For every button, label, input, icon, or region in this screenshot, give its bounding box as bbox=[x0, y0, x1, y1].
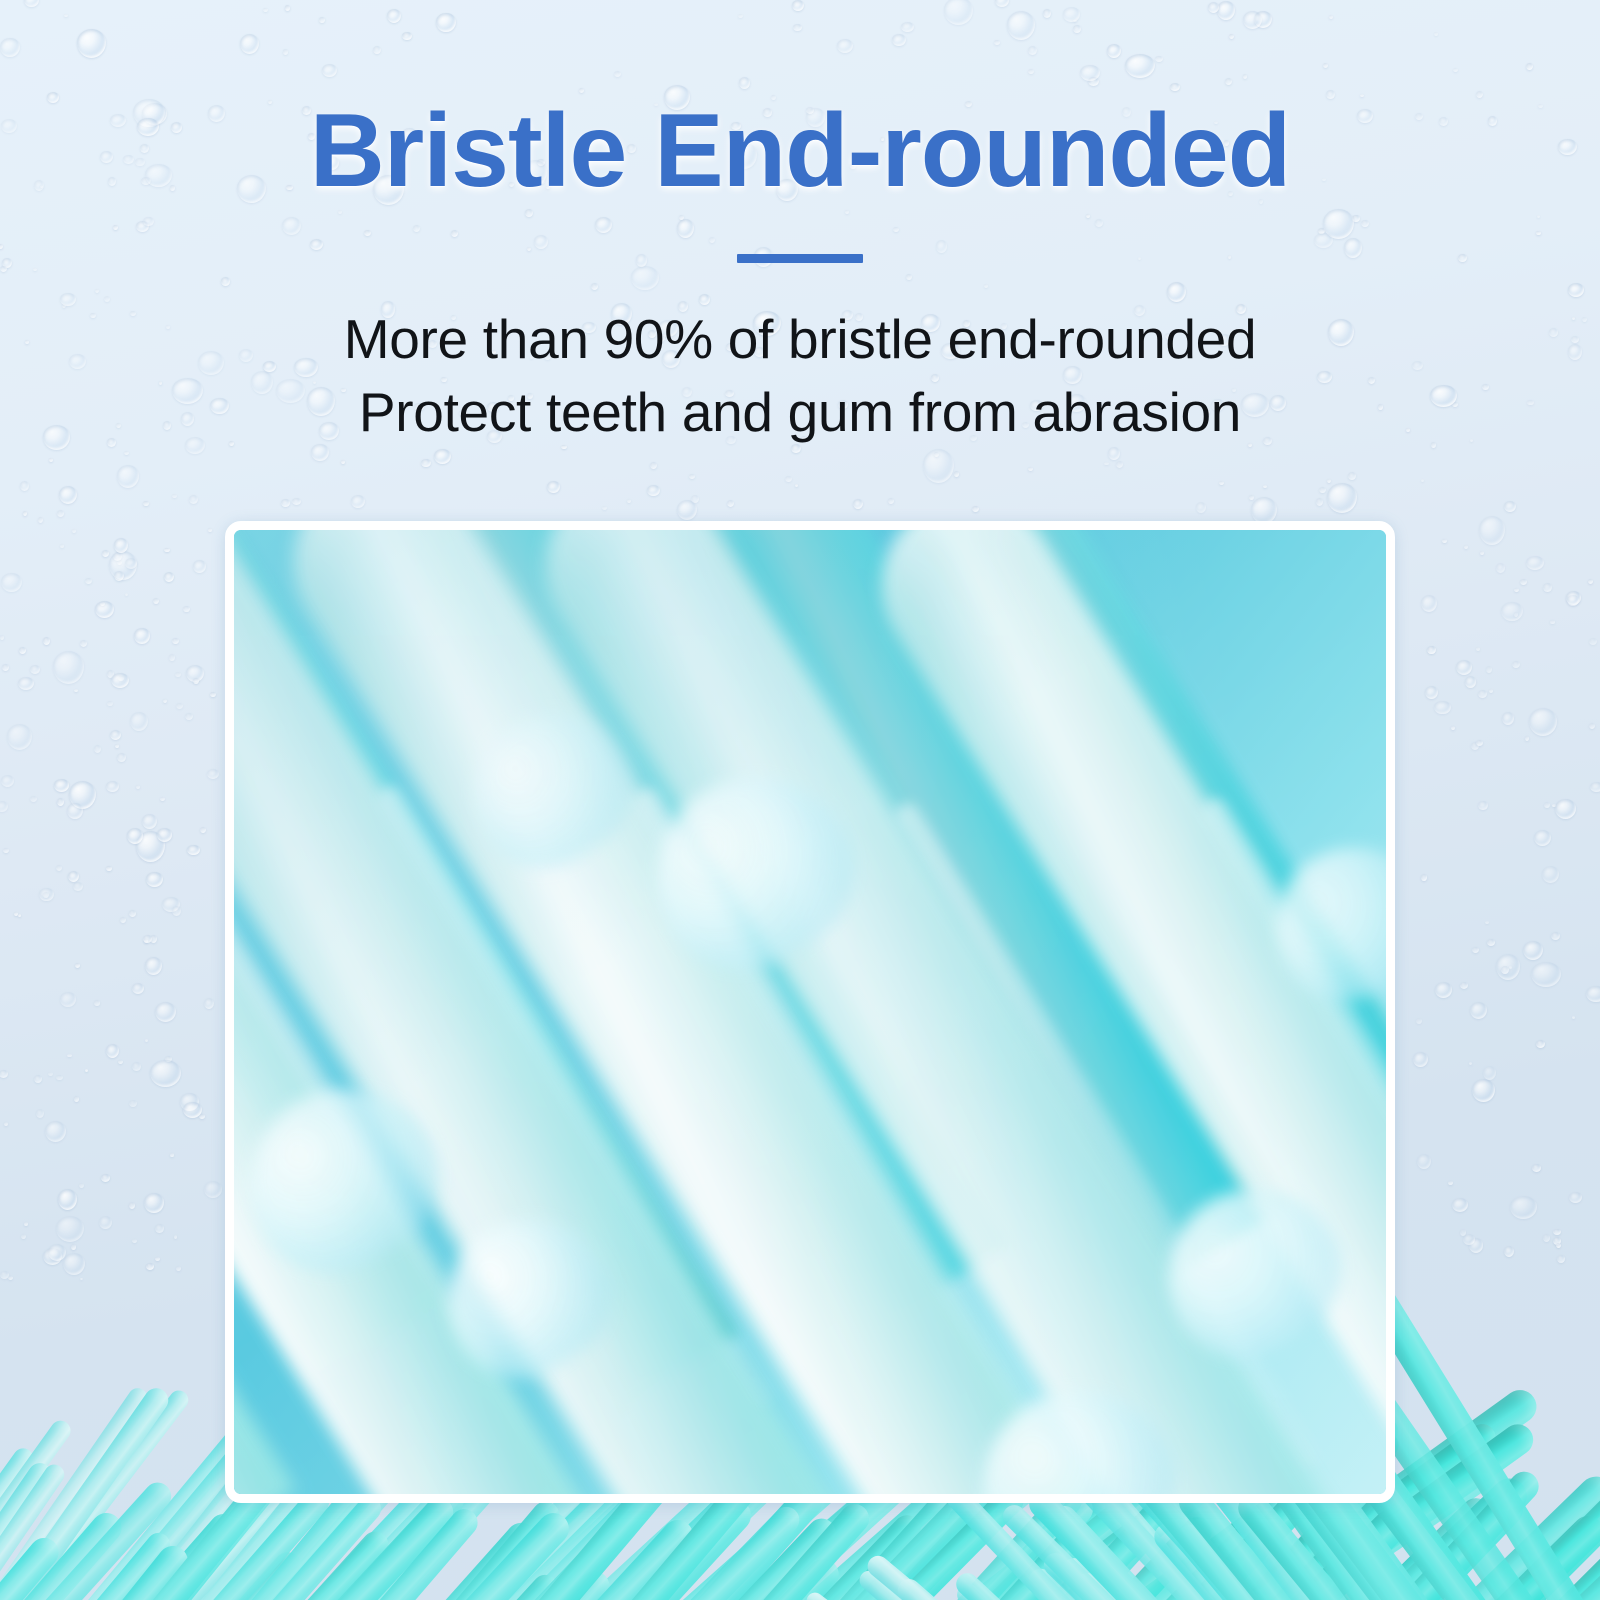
water-droplet bbox=[1552, 804, 1556, 808]
water-droplet bbox=[94, 745, 101, 753]
water-droplet bbox=[1472, 1079, 1495, 1102]
water-droplet bbox=[174, 1235, 177, 1239]
water-droplet bbox=[1588, 579, 1593, 584]
water-droplet bbox=[58, 1189, 77, 1210]
water-droplet bbox=[132, 1062, 141, 1071]
water-droplet bbox=[38, 517, 43, 523]
background-bristle bbox=[77, 1492, 386, 1600]
background-bristle bbox=[0, 1384, 151, 1600]
water-droplet bbox=[1219, 481, 1224, 486]
water-droplet bbox=[172, 638, 178, 644]
background-bristle bbox=[154, 1493, 459, 1600]
water-droplet bbox=[18, 677, 34, 690]
water-droplet bbox=[0, 1070, 8, 1078]
water-droplet bbox=[72, 529, 76, 533]
background-bristle bbox=[646, 1494, 1002, 1600]
water-droplet bbox=[56, 1216, 84, 1242]
water-droplet bbox=[1557, 1255, 1565, 1263]
water-droplet bbox=[118, 676, 124, 681]
water-droplet bbox=[183, 606, 189, 612]
water-droplet bbox=[175, 672, 181, 678]
water-droplet bbox=[1413, 1052, 1427, 1067]
water-droplet bbox=[923, 449, 954, 483]
water-droplet bbox=[1460, 1229, 1467, 1236]
background-bristle bbox=[0, 1461, 69, 1600]
subtitle-line-1: More than 90% of bristle end-rounded bbox=[0, 303, 1600, 376]
water-droplet bbox=[1471, 742, 1479, 750]
water-droplet bbox=[130, 712, 148, 731]
background-bristle bbox=[0, 1528, 175, 1600]
background-bristle bbox=[574, 1498, 875, 1600]
water-droplet bbox=[1526, 556, 1544, 571]
background-bristle bbox=[813, 1554, 1109, 1600]
background-bristle bbox=[0, 1384, 173, 1600]
water-droplet bbox=[30, 665, 40, 673]
background-bristle bbox=[1149, 1518, 1600, 1600]
background-bristle bbox=[539, 1552, 845, 1600]
water-droplet bbox=[4, 1122, 8, 1126]
background-bristle bbox=[623, 1492, 956, 1600]
background-bristle bbox=[1535, 1499, 1600, 1600]
water-droplet bbox=[106, 1044, 119, 1058]
water-droplet bbox=[1504, 501, 1515, 512]
water-droplet bbox=[85, 1069, 88, 1073]
water-droplet bbox=[180, 1093, 198, 1112]
water-droplet bbox=[1504, 1246, 1514, 1257]
water-droplet bbox=[1463, 1234, 1476, 1245]
water-droplet bbox=[106, 866, 111, 871]
water-droplet bbox=[79, 1183, 85, 1188]
background-bristle bbox=[0, 1459, 56, 1600]
water-droplet bbox=[650, 462, 657, 470]
background-bristle bbox=[749, 1535, 1067, 1600]
water-droplet bbox=[1551, 932, 1560, 941]
background-bristle bbox=[0, 1508, 244, 1600]
water-droplet bbox=[117, 753, 127, 762]
background-bristle bbox=[803, 1526, 1089, 1600]
water-droplet bbox=[186, 665, 205, 682]
water-droplet bbox=[24, 1222, 29, 1226]
background-bristle bbox=[856, 1567, 1258, 1600]
background-bristle bbox=[1256, 1510, 1600, 1600]
water-droplet bbox=[48, 1244, 66, 1261]
water-droplet bbox=[1534, 830, 1551, 846]
water-droplet bbox=[1465, 676, 1476, 687]
background-bristle bbox=[1400, 1514, 1600, 1600]
water-droplet bbox=[1590, 782, 1600, 793]
water-droplet bbox=[0, 1271, 9, 1279]
water-droplet bbox=[169, 654, 175, 660]
water-droplet bbox=[1452, 1198, 1468, 1212]
background-bristle bbox=[598, 1510, 926, 1600]
water-droplet bbox=[136, 785, 141, 790]
water-droplet bbox=[1589, 723, 1595, 729]
background-bristle bbox=[920, 1491, 1295, 1600]
water-droplet bbox=[207, 769, 219, 780]
water-droplet bbox=[189, 495, 198, 504]
water-droplet bbox=[155, 1224, 163, 1233]
water-droplet bbox=[127, 828, 143, 844]
background-bristle bbox=[952, 1580, 1382, 1600]
background-bristle bbox=[517, 1513, 841, 1600]
water-droplet bbox=[125, 558, 137, 569]
water-droplet bbox=[23, 511, 27, 516]
water-droplet bbox=[74, 1096, 80, 1102]
water-droplet bbox=[125, 593, 128, 596]
water-droplet bbox=[176, 703, 183, 709]
water-droplet bbox=[183, 1102, 203, 1118]
water-droplet bbox=[351, 495, 365, 508]
water-droplet bbox=[20, 481, 29, 490]
background-bristle bbox=[696, 1499, 1418, 1600]
water-droplet bbox=[193, 560, 206, 572]
background-bristle bbox=[1516, 1506, 1600, 1600]
water-droplet bbox=[113, 552, 122, 561]
water-droplet bbox=[124, 451, 129, 455]
water-droplet bbox=[132, 1239, 137, 1243]
background-bristle bbox=[190, 1503, 484, 1600]
water-droplet bbox=[2, 664, 9, 671]
water-droplet bbox=[80, 1278, 83, 1281]
background-bristle bbox=[1140, 1533, 1458, 1600]
water-droplet bbox=[120, 917, 126, 924]
water-droplet bbox=[60, 992, 76, 1006]
water-droplet bbox=[107, 701, 112, 706]
water-droplet bbox=[1550, 620, 1554, 624]
water-droplet bbox=[107, 670, 115, 678]
water-droplet bbox=[160, 797, 165, 801]
water-droplet bbox=[1476, 647, 1480, 650]
background-bristle bbox=[948, 1515, 1301, 1600]
water-droplet bbox=[144, 1193, 163, 1213]
background-bristle bbox=[863, 1551, 1319, 1600]
background-bristle bbox=[277, 1570, 563, 1600]
water-droplet bbox=[73, 882, 83, 891]
water-droplet bbox=[118, 1060, 123, 1064]
water-droplet bbox=[972, 506, 979, 512]
water-droplet bbox=[170, 1153, 173, 1157]
water-droplet bbox=[1532, 1164, 1540, 1172]
water-droplet bbox=[132, 983, 145, 994]
water-droplet bbox=[1553, 1229, 1561, 1235]
water-droplet bbox=[1464, 545, 1468, 549]
water-droplet bbox=[157, 828, 172, 841]
water-droplet bbox=[115, 744, 119, 748]
water-droplet bbox=[80, 640, 87, 647]
water-droplet bbox=[954, 471, 960, 477]
water-droplet bbox=[1028, 467, 1033, 471]
water-droplet bbox=[1442, 539, 1447, 543]
water-droplet bbox=[281, 499, 290, 506]
water-droplet bbox=[146, 1263, 154, 1270]
water-droplet bbox=[1108, 447, 1120, 460]
background-bristle bbox=[731, 1489, 1099, 1600]
water-droplet bbox=[14, 912, 18, 915]
water-droplet bbox=[1520, 579, 1527, 585]
background-bristle bbox=[222, 1516, 543, 1600]
water-droplet bbox=[39, 888, 54, 902]
water-droplet bbox=[143, 935, 152, 943]
water-droplet bbox=[129, 910, 136, 916]
water-droplet bbox=[19, 647, 26, 654]
water-droplet bbox=[117, 560, 122, 565]
water-droplet bbox=[114, 538, 128, 553]
background-bristle bbox=[1312, 1499, 1600, 1600]
background-bristle bbox=[1458, 1485, 1600, 1600]
background-bristle bbox=[491, 1501, 804, 1600]
water-droplet bbox=[129, 1100, 136, 1107]
water-droplet bbox=[1543, 583, 1551, 592]
water-droplet bbox=[1421, 595, 1437, 612]
water-droplet bbox=[7, 724, 32, 750]
water-droplet bbox=[1525, 736, 1530, 741]
water-droplet bbox=[30, 796, 37, 802]
water-droplet bbox=[208, 528, 211, 532]
water-droplet bbox=[1566, 591, 1582, 605]
background-bristle bbox=[1024, 1564, 1412, 1600]
background-bristle bbox=[1560, 1433, 1600, 1600]
background-bristle bbox=[952, 1569, 1433, 1600]
water-droplet bbox=[1327, 479, 1331, 483]
water-droplet bbox=[145, 1039, 148, 1043]
water-droplet bbox=[153, 598, 160, 604]
water-droplet bbox=[1510, 1196, 1537, 1218]
subtitle-block: More than 90% of bristle end-rounded Pro… bbox=[0, 303, 1600, 448]
water-droplet bbox=[1416, 1018, 1422, 1024]
water-droplet bbox=[85, 578, 92, 585]
water-droplet bbox=[1567, 595, 1579, 606]
water-droplet bbox=[1501, 602, 1523, 621]
water-droplet bbox=[100, 602, 104, 606]
water-droplet bbox=[162, 897, 180, 912]
water-droplet bbox=[136, 831, 165, 863]
water-droplet bbox=[109, 551, 137, 580]
water-droplet bbox=[1536, 1040, 1545, 1048]
water-droplet bbox=[204, 1181, 222, 1197]
water-droplet bbox=[1485, 921, 1488, 924]
water-droplet bbox=[53, 651, 85, 684]
water-droplet bbox=[1496, 954, 1520, 980]
water-droplet bbox=[163, 699, 167, 703]
water-droplet bbox=[45, 1121, 66, 1142]
page-title: Bristle End-rounded bbox=[0, 96, 1600, 206]
water-droplet bbox=[1480, 551, 1484, 555]
water-droplet bbox=[71, 1244, 77, 1250]
background-bristle bbox=[893, 1575, 1354, 1600]
background-bristle bbox=[1488, 1508, 1600, 1600]
water-droplet bbox=[934, 452, 939, 457]
water-droplet bbox=[176, 1266, 181, 1271]
water-droplet bbox=[111, 673, 129, 688]
water-droplet bbox=[1104, 462, 1109, 466]
water-droplet bbox=[647, 485, 659, 497]
water-droplet bbox=[8, 1276, 13, 1280]
water-droplet bbox=[69, 781, 96, 810]
water-droplet bbox=[1435, 982, 1452, 997]
water-droplet bbox=[49, 458, 53, 462]
water-droplet bbox=[1509, 966, 1512, 969]
water-droplet bbox=[95, 601, 114, 619]
water-droplet bbox=[102, 550, 109, 557]
water-droplet bbox=[48, 1072, 53, 1076]
background-bristle bbox=[237, 1496, 565, 1600]
water-droplet bbox=[75, 963, 80, 968]
water-droplet bbox=[57, 510, 64, 517]
water-droplet bbox=[200, 827, 206, 833]
water-droplet bbox=[210, 692, 216, 697]
water-droplet bbox=[292, 498, 300, 505]
water-droplet bbox=[146, 872, 163, 888]
water-droplet bbox=[1421, 874, 1428, 880]
background-bristle bbox=[1071, 1568, 1476, 1600]
product-feature-poster: Bristle End-rounded More than 90% of bri… bbox=[0, 0, 1600, 1600]
header-text-block: Bristle End-rounded More than 90% of bri… bbox=[0, 0, 1600, 448]
water-droplet bbox=[134, 628, 149, 644]
background-bristle bbox=[401, 1514, 699, 1600]
water-droplet bbox=[1553, 1237, 1561, 1245]
water-droplet bbox=[150, 1060, 180, 1087]
water-droplet bbox=[56, 1075, 62, 1080]
water-droplet bbox=[68, 871, 79, 882]
water-droplet bbox=[1496, 563, 1505, 573]
water-droplet bbox=[1544, 802, 1550, 808]
background-bristle bbox=[846, 1491, 1177, 1600]
water-droplet bbox=[1586, 986, 1600, 1002]
water-droplet bbox=[164, 572, 174, 582]
water-droplet bbox=[1501, 966, 1509, 974]
background-bristle bbox=[1232, 1487, 1600, 1600]
background-bristle bbox=[0, 1387, 193, 1600]
water-droplet bbox=[57, 798, 64, 805]
water-droplet bbox=[888, 498, 894, 504]
water-droplet bbox=[1425, 686, 1438, 700]
water-droplet bbox=[54, 779, 69, 791]
water-droplet bbox=[59, 486, 78, 505]
water-droplet bbox=[150, 935, 157, 942]
water-droplet bbox=[1, 573, 22, 592]
water-droplet bbox=[117, 465, 140, 488]
background-bristle bbox=[0, 1540, 194, 1600]
background-bristle bbox=[1171, 1519, 1600, 1600]
water-droplet bbox=[67, 1054, 72, 1058]
water-droplet bbox=[1427, 646, 1436, 655]
water-droplet bbox=[689, 474, 694, 479]
water-droplet bbox=[1478, 801, 1487, 810]
background-bristle bbox=[1579, 1486, 1600, 1600]
water-droplet bbox=[1327, 483, 1357, 513]
background-bristle bbox=[803, 1589, 1213, 1600]
water-droplet bbox=[1569, 1192, 1582, 1204]
background-bristle bbox=[0, 1444, 37, 1600]
water-droplet bbox=[1486, 666, 1492, 672]
water-droplet bbox=[1543, 1234, 1550, 1241]
background-bristle bbox=[317, 1486, 660, 1600]
water-droplet bbox=[43, 1248, 62, 1265]
water-droplet bbox=[155, 1257, 160, 1261]
water-droplet bbox=[677, 500, 697, 520]
water-droplet bbox=[1263, 485, 1267, 488]
water-droplet bbox=[1249, 495, 1254, 501]
water-droplet bbox=[1476, 740, 1483, 746]
background-bristle bbox=[998, 1501, 1502, 1600]
water-droplet bbox=[193, 678, 199, 684]
background-bristle bbox=[1039, 1549, 1491, 1600]
water-droplet bbox=[1487, 939, 1495, 945]
water-droplet bbox=[0, 635, 4, 639]
water-droplet bbox=[627, 499, 631, 503]
water-droplet bbox=[43, 892, 50, 898]
water-droplet bbox=[172, 494, 177, 499]
water-droplet bbox=[1514, 588, 1519, 592]
water-droplet bbox=[727, 500, 734, 507]
background-bristle bbox=[0, 1507, 127, 1600]
background-bristle bbox=[102, 1526, 395, 1600]
background-bristle bbox=[256, 1506, 575, 1600]
water-droplet bbox=[0, 801, 8, 812]
background-bristle bbox=[894, 1511, 1217, 1600]
water-droplet bbox=[21, 1234, 26, 1239]
water-droplet bbox=[43, 637, 50, 644]
water-droplet bbox=[1316, 498, 1323, 506]
water-droplet bbox=[1456, 660, 1472, 675]
water-droplet bbox=[1529, 708, 1557, 736]
water-droplet bbox=[67, 803, 83, 819]
background-bristle bbox=[18, 1546, 307, 1600]
background-bristle bbox=[1025, 1526, 1334, 1600]
water-droplet bbox=[204, 998, 214, 1009]
water-droplet bbox=[1451, 726, 1455, 731]
water-droplet bbox=[99, 1216, 112, 1229]
water-droplet bbox=[795, 484, 798, 487]
water-droplet bbox=[1531, 962, 1561, 987]
water-droplet bbox=[94, 1000, 100, 1005]
background-bristle bbox=[1059, 1487, 1406, 1600]
water-droplet bbox=[1469, 1062, 1472, 1065]
background-bristle bbox=[1085, 1502, 1415, 1600]
water-droplet bbox=[1470, 1002, 1487, 1019]
bristle-macro-photo-card bbox=[225, 521, 1395, 1503]
water-droplet bbox=[18, 914, 21, 917]
water-droplet bbox=[1116, 461, 1123, 468]
background-bristle bbox=[406, 1493, 759, 1600]
water-droplet bbox=[106, 781, 118, 792]
water-droplet bbox=[1319, 487, 1326, 493]
water-droplet bbox=[1460, 982, 1468, 989]
water-droplet bbox=[143, 501, 149, 506]
water-droplet bbox=[1502, 712, 1514, 725]
water-droplet bbox=[1251, 497, 1277, 524]
water-droplet bbox=[1469, 1238, 1484, 1252]
background-bristle bbox=[1057, 1553, 1473, 1600]
background-bristle bbox=[1107, 1492, 1498, 1600]
water-droplet bbox=[3, 848, 9, 853]
water-droplet bbox=[434, 449, 451, 465]
bristle-macro-photo bbox=[234, 530, 1386, 1494]
water-droplet bbox=[1514, 612, 1519, 617]
title-divider-bar bbox=[737, 254, 863, 263]
background-bristle bbox=[1385, 1485, 1600, 1600]
water-droplet bbox=[145, 957, 162, 975]
water-droplet bbox=[142, 814, 157, 829]
water-droplet bbox=[34, 1075, 42, 1083]
water-droplet bbox=[785, 476, 792, 482]
water-droplet bbox=[172, 906, 181, 916]
background-bristle bbox=[0, 1417, 74, 1600]
water-droplet bbox=[1572, 1016, 1575, 1019]
water-droplet bbox=[187, 845, 199, 856]
water-droplet bbox=[129, 1202, 135, 1209]
water-droplet bbox=[63, 1253, 85, 1275]
